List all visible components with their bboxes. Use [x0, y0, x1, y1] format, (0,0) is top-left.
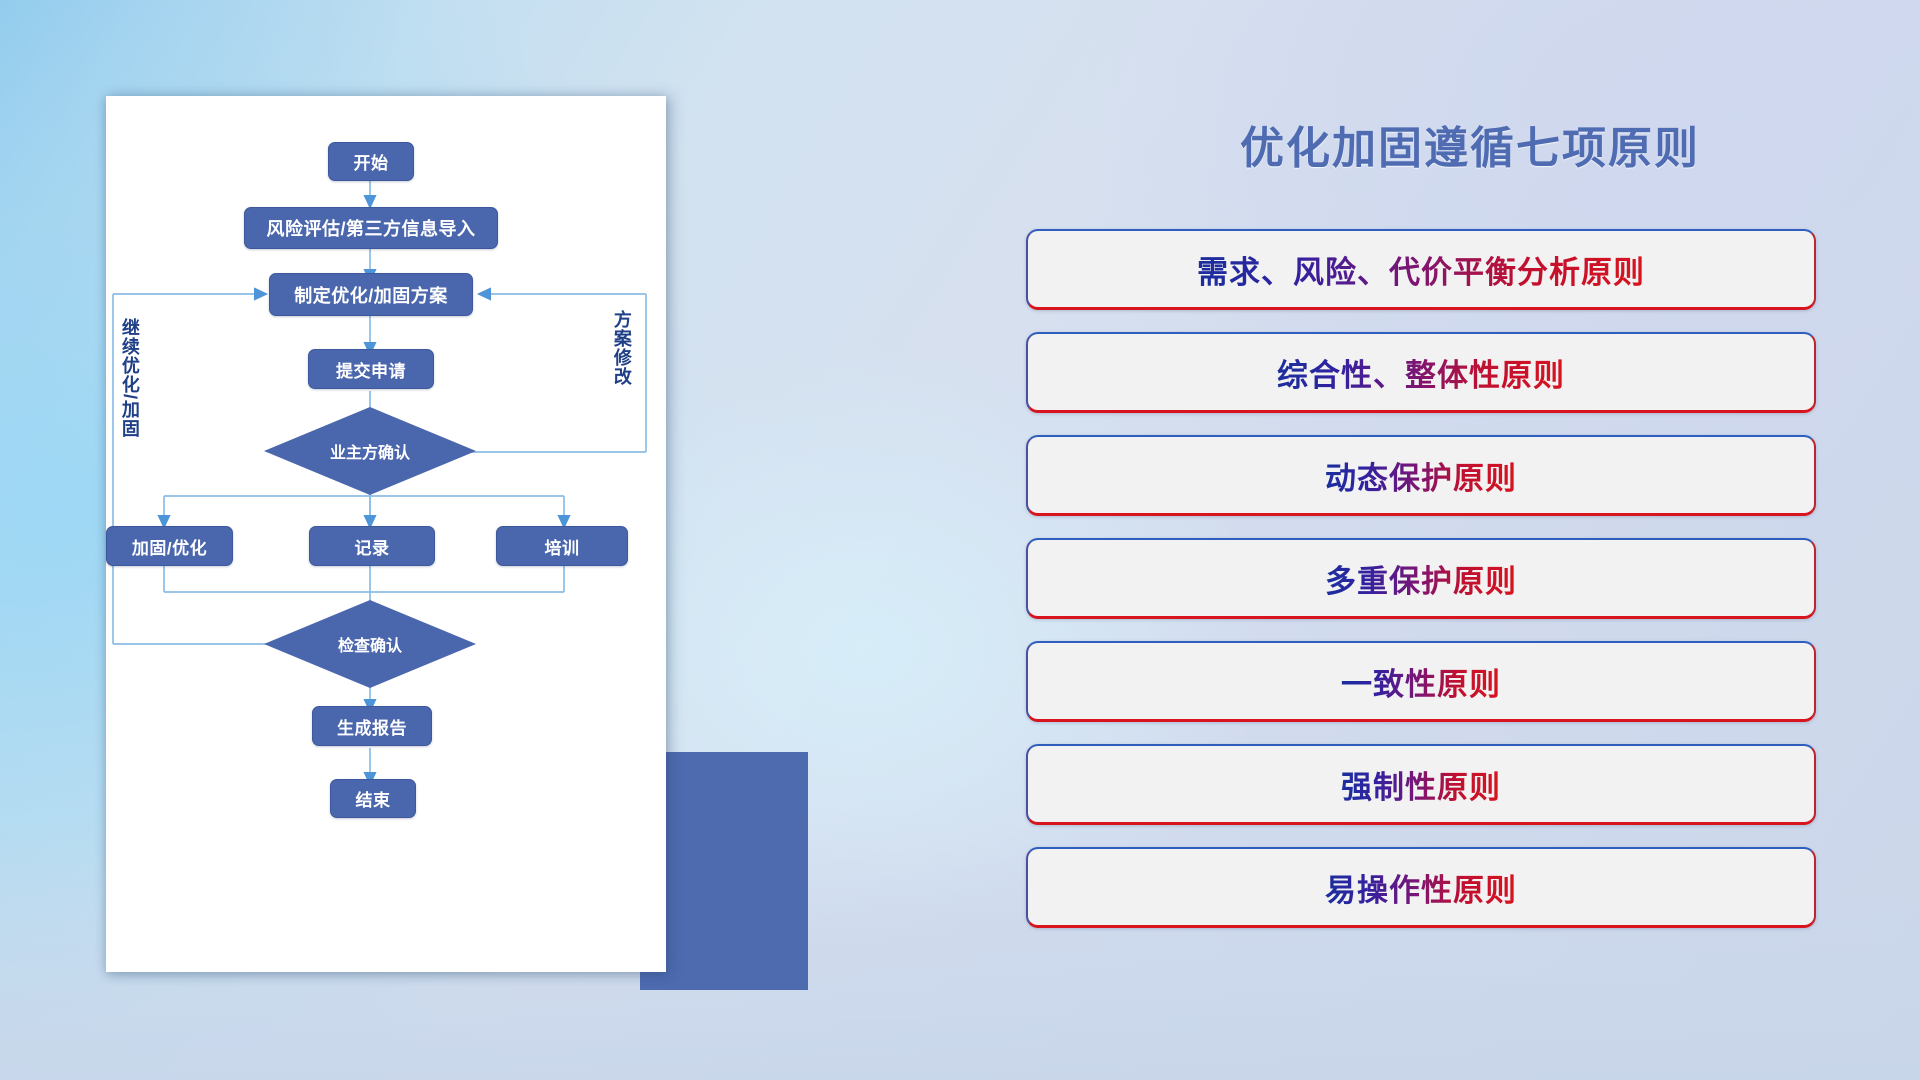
principle-item[interactable]: 强制性原则 — [1026, 744, 1816, 825]
flow-node-training[interactable]: 培训 — [496, 526, 628, 566]
flow-node-generate-report[interactable]: 生成报告 — [312, 706, 432, 746]
flow-node-submit-application[interactable]: 提交申请 — [308, 349, 434, 389]
principle-item[interactable]: 动态保护原则 — [1026, 435, 1816, 516]
panel-title: 优化加固遵循七项原则 — [1020, 112, 1920, 176]
flow-node-reinforce[interactable]: 加固/优化 — [106, 526, 233, 566]
flow-edge-label-plan-revision: 方案修改 — [612, 310, 631, 386]
flow-node-start[interactable]: 开始 — [328, 142, 414, 181]
principle-label: 一致性原则 — [1341, 659, 1501, 704]
principles-panel: 优化加固遵循七项原则 需求、风险、代价平衡分析原则 综合性、整体性原则 动态保护… — [1020, 0, 1920, 1080]
principle-label: 多重保护原则 — [1325, 556, 1517, 601]
flowchart-region: 开始 风险评估/第三方信息导入 制定优化/加固方案 提交申请 业主方确认 加固/… — [0, 0, 830, 1080]
principles-list: 需求、风险、代价平衡分析原则 综合性、整体性原则 动态保护原则 多重保护原则 一… — [1026, 229, 1816, 950]
flowchart-card: 开始 风险评估/第三方信息导入 制定优化/加固方案 提交申请 业主方确认 加固/… — [106, 96, 666, 972]
principle-item[interactable]: 一致性原则 — [1026, 641, 1816, 722]
principle-label: 强制性原则 — [1341, 762, 1501, 807]
flow-node-end[interactable]: 结束 — [330, 779, 416, 818]
principle-label: 易操作性原则 — [1325, 865, 1517, 910]
principle-item[interactable]: 多重保护原则 — [1026, 538, 1816, 619]
flow-node-record[interactable]: 记录 — [309, 526, 435, 566]
principle-item[interactable]: 综合性、整体性原则 — [1026, 332, 1816, 413]
flow-node-risk-assessment[interactable]: 风险评估/第三方信息导入 — [244, 207, 498, 249]
principle-label: 综合性、整体性原则 — [1277, 350, 1565, 395]
principle-item[interactable]: 需求、风险、代价平衡分析原则 — [1026, 229, 1816, 310]
principle-label: 动态保护原则 — [1325, 453, 1517, 498]
flow-edge-label-continue-optimize: 继续优化/加固 — [120, 318, 139, 438]
principle-label: 需求、风险、代价平衡分析原则 — [1197, 247, 1645, 292]
flow-node-plan[interactable]: 制定优化/加固方案 — [269, 273, 473, 316]
principle-item[interactable]: 易操作性原则 — [1026, 847, 1816, 928]
